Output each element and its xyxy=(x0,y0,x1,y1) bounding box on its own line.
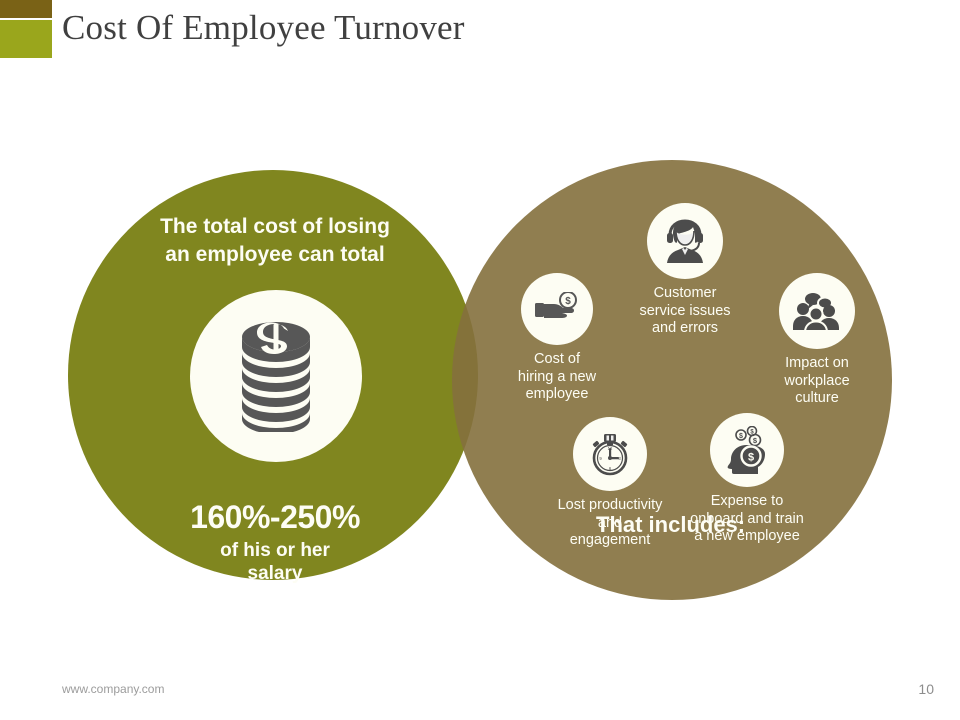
onboard-expense-badge: $ $ $ $ xyxy=(710,413,784,487)
left-heading-line-1: The total cost of losing xyxy=(100,213,450,241)
label-line-2: hiring a new xyxy=(472,369,642,387)
node-onboard-expense[interactable]: $ $ $ $ Expense to onboard and train a n… xyxy=(662,413,832,546)
onboard-expense-label: Expense to onboard and train a new emplo… xyxy=(662,493,832,546)
coin-stack-badge xyxy=(190,290,362,462)
label-line-3: employee xyxy=(472,386,642,404)
stopwatch-icon: 12 3 6 9 xyxy=(588,430,632,478)
workplace-culture-badge xyxy=(779,273,855,349)
svg-text:3: 3 xyxy=(618,456,621,461)
workplace-culture-label: Impact on workplace culture xyxy=(732,355,902,408)
left-circle-heading: The total cost of losing an employee can… xyxy=(100,213,450,268)
label-line-3: a new employee xyxy=(662,528,832,546)
header-accent-blocks xyxy=(0,0,52,58)
page-title: Cost Of Employee Turnover xyxy=(62,8,465,48)
head-with-coins-icon: $ $ $ $ xyxy=(724,426,770,474)
label-line-2: onboard and train xyxy=(662,511,832,529)
customer-service-badge xyxy=(647,203,723,279)
lost-productivity-badge: 12 3 6 9 xyxy=(573,417,647,491)
footer-url[interactable]: www.company.com xyxy=(62,682,164,696)
left-circle-stat: 160%-250% of his or her salary xyxy=(100,500,450,585)
accent-block-light xyxy=(0,20,52,58)
label-line-2: workplace xyxy=(732,373,902,391)
cost-of-hiring-badge: $ xyxy=(521,273,593,345)
label-line-3: culture xyxy=(732,390,902,408)
hand-with-coin-icon: $ xyxy=(534,292,580,326)
svg-text:$: $ xyxy=(748,452,754,464)
stat-caption-line-2: salary xyxy=(100,562,450,585)
svg-text:9: 9 xyxy=(599,456,602,461)
accent-block-dark xyxy=(0,0,52,18)
footer-page-number: 10 xyxy=(918,681,934,697)
label-line-1: Impact on xyxy=(732,355,902,373)
people-speech-bubble-icon xyxy=(792,292,842,330)
svg-text:$: $ xyxy=(753,436,758,445)
node-workplace-culture[interactable]: Impact on workplace culture xyxy=(732,273,902,408)
label-line-1: Cost of xyxy=(472,351,642,369)
venn-diagram: The total cost of losing an employee can… xyxy=(0,145,960,605)
stat-caption-line-1: of his or her xyxy=(100,539,450,562)
stat-value: 160%-250% xyxy=(100,500,450,536)
coin-stack-icon xyxy=(226,320,326,432)
svg-text:$: $ xyxy=(565,296,571,307)
svg-text:12: 12 xyxy=(608,446,613,451)
svg-text:$: $ xyxy=(739,433,743,440)
headset-agent-icon xyxy=(661,219,709,263)
stat-caption: of his or her salary xyxy=(100,539,450,585)
cost-of-hiring-label: Cost of hiring a new employee xyxy=(472,351,642,404)
left-heading-line-2: an employee can total xyxy=(100,241,450,269)
label-line-1: Expense to xyxy=(662,493,832,511)
